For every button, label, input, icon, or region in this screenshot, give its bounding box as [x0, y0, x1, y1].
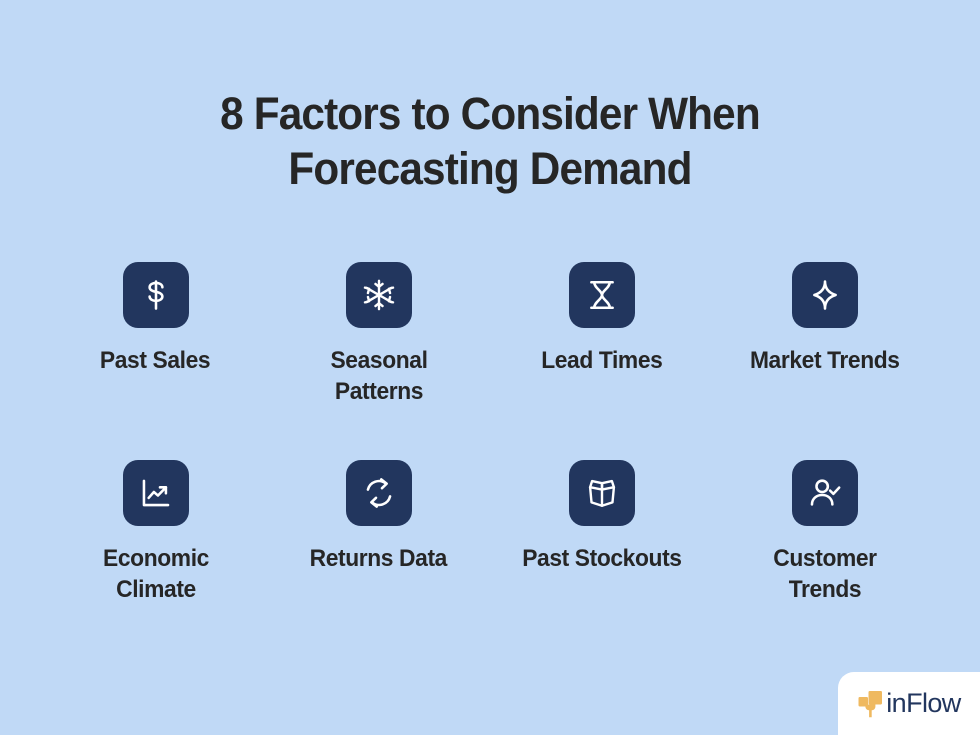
factor-item-past-sales: Past Sales — [44, 262, 267, 460]
icon-tile-past-sales — [123, 262, 189, 328]
icon-tile-past-stockouts — [569, 460, 635, 526]
line-chart-up-icon — [139, 476, 173, 510]
icon-tile-returns-data — [346, 460, 412, 526]
factor-item-seasonal-patterns: Seasonal Patterns — [267, 262, 490, 460]
factor-label-economic-climate: Economic Climate — [94, 543, 218, 605]
factor-label-past-stockouts: Past Stockouts — [522, 543, 681, 574]
factor-item-returns-data: Returns Data — [267, 460, 490, 658]
factor-item-economic-climate: Economic Climate — [44, 460, 267, 658]
factor-label-market-trends: Market Trends — [750, 345, 900, 376]
icon-tile-customer-trends — [792, 460, 858, 526]
factor-item-market-trends: Market Trends — [713, 262, 936, 460]
factors-grid: Past Sales — [44, 262, 936, 658]
title-line-1: 8 Factors to Consider When — [29, 86, 950, 141]
inflow-logo-mark-icon — [857, 689, 887, 719]
factor-item-customer-trends: Customer Trends — [713, 460, 936, 658]
brand-logo-card: inFlow — [838, 672, 980, 735]
factor-label-seasonal-patterns: Seasonal Patterns — [317, 345, 441, 407]
factor-label-customer-trends: Customer Trends — [763, 543, 887, 605]
infographic-canvas: 8 Factors to Consider When Forecasting D… — [0, 0, 980, 735]
hourglass-icon — [585, 278, 619, 312]
factor-item-past-stockouts: Past Stockouts — [490, 460, 713, 658]
factor-label-lead-times: Lead Times — [541, 345, 662, 376]
open-box-icon — [585, 476, 619, 510]
sparkle-star-icon — [808, 278, 842, 312]
factor-item-lead-times: Lead Times — [490, 262, 713, 460]
icon-tile-economic-climate — [123, 460, 189, 526]
icon-tile-market-trends — [792, 262, 858, 328]
page-title: 8 Factors to Consider When Forecasting D… — [0, 86, 980, 196]
dollar-sign-icon — [139, 278, 173, 312]
refresh-arrows-icon — [362, 476, 396, 510]
icon-tile-seasonal-patterns — [346, 262, 412, 328]
icon-tile-lead-times — [569, 262, 635, 328]
inflow-logo-text: inFlow — [886, 690, 960, 717]
factor-label-past-sales: Past Sales — [100, 345, 210, 376]
factor-label-returns-data: Returns Data — [310, 543, 447, 574]
snowflake-icon — [362, 278, 396, 312]
person-check-icon — [808, 476, 842, 510]
title-line-2: Forecasting Demand — [29, 141, 950, 196]
